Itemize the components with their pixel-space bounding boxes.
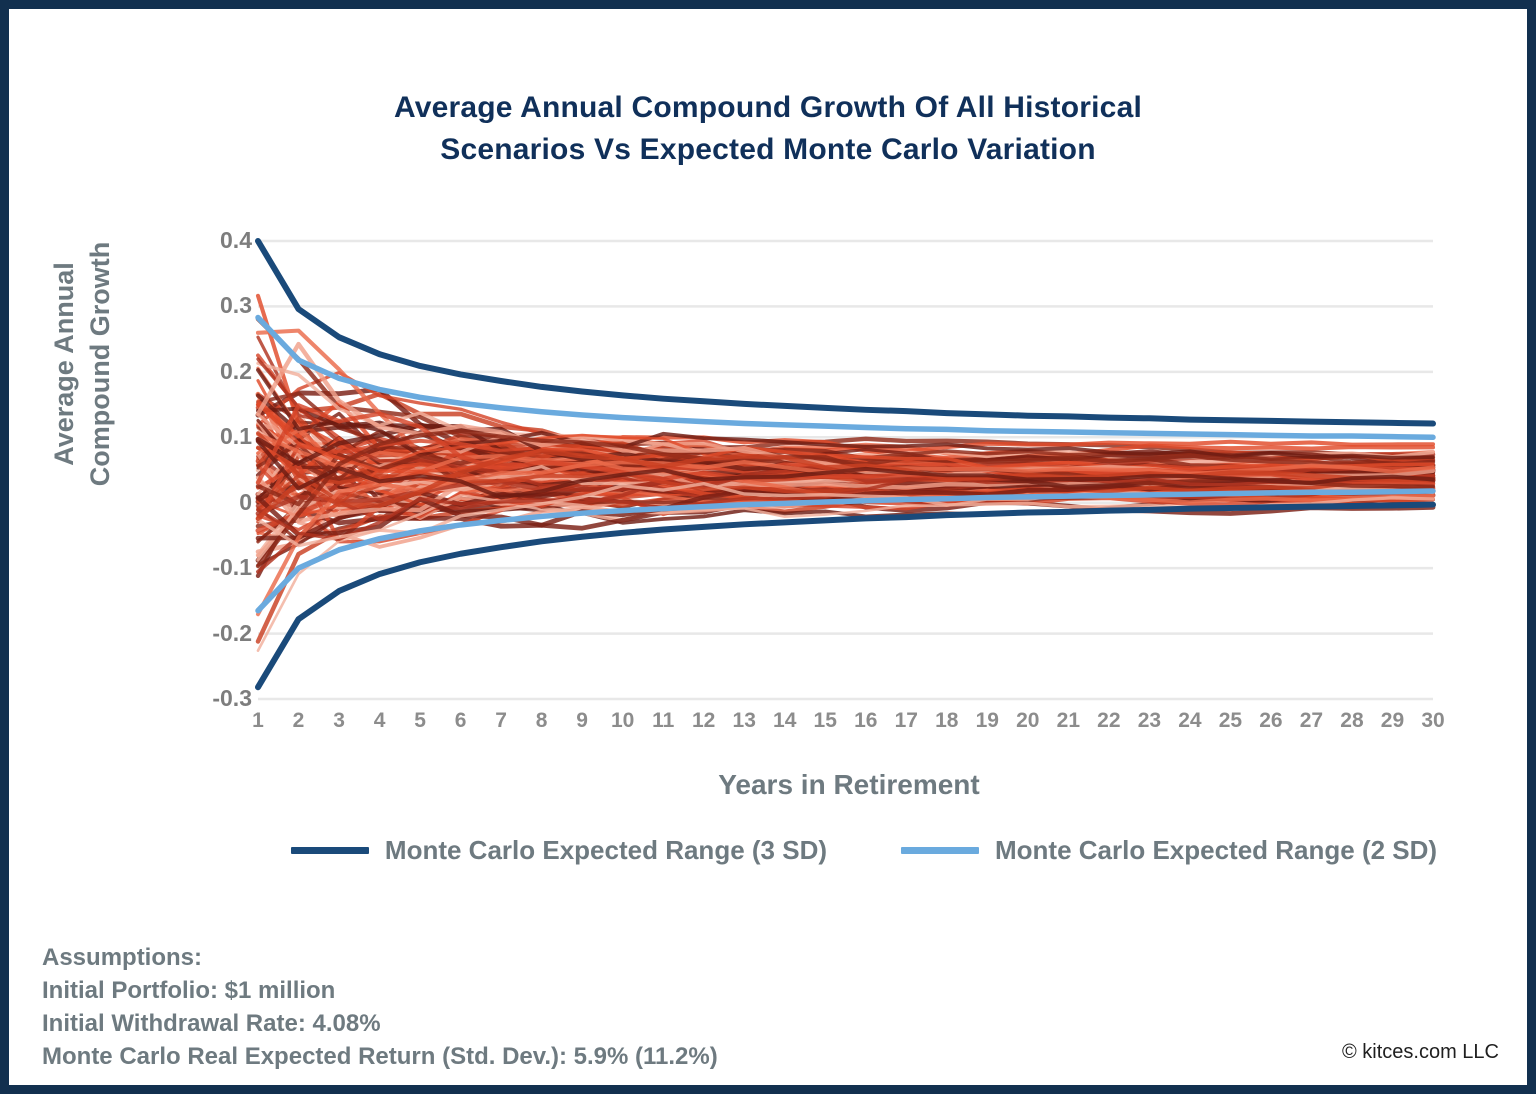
legend-label-2sd: Monte Carlo Expected Range (2 SD) xyxy=(995,835,1437,866)
x-axis-tick-label: 16 xyxy=(854,709,877,733)
x-axis-tick-label: 14 xyxy=(773,709,796,733)
chart-frame: Average Annual Compound Growth Of All Hi… xyxy=(9,9,1527,1085)
x-axis-tick-label: 19 xyxy=(976,709,999,733)
x-axis-tick-label: 3 xyxy=(333,709,345,733)
x-axis-tick-label: 2 xyxy=(293,709,305,733)
x-axis-tick-label: 18 xyxy=(935,709,958,733)
plot-area xyxy=(9,9,1527,1085)
x-axis-tick-label: 4 xyxy=(374,709,386,733)
legend-swatch-2sd-icon xyxy=(901,847,979,854)
x-axis-tick-label: 30 xyxy=(1421,709,1444,733)
x-axis-tick-labels: 1234567891011121314151617181920212223242… xyxy=(258,709,1433,745)
legend-swatch-3sd-icon xyxy=(291,847,369,854)
chart-legend: Monte Carlo Expected Range (3 SD) Monte … xyxy=(249,827,1479,873)
x-axis-title: Years in Retirement xyxy=(249,769,1449,801)
legend-item-3sd: Monte Carlo Expected Range (3 SD) xyxy=(291,835,827,866)
assumptions-heading: Assumptions: xyxy=(42,941,718,974)
x-axis-tick-label: 6 xyxy=(455,709,467,733)
x-axis-tick-label: 1 xyxy=(252,709,264,733)
x-axis-tick-label: 7 xyxy=(495,709,507,733)
x-axis-tick-label: 13 xyxy=(733,709,756,733)
legend-item-2sd: Monte Carlo Expected Range (2 SD) xyxy=(901,835,1437,866)
x-axis-tick-label: 27 xyxy=(1300,709,1323,733)
chart-svg xyxy=(9,9,1527,1085)
x-axis-tick-label: 25 xyxy=(1219,709,1242,733)
x-axis-tick-label: 9 xyxy=(576,709,588,733)
historical-scenario-lines xyxy=(258,296,1433,651)
x-axis-tick-label: 8 xyxy=(536,709,548,733)
assumptions-line-3: Monte Carlo Real Expected Return (Std. D… xyxy=(42,1040,718,1073)
x-axis-tick-label: 22 xyxy=(1097,709,1120,733)
copyright-notice: © kitces.com LLC xyxy=(1342,1041,1499,1064)
assumptions-line-1: Initial Portfolio: $1 million xyxy=(42,974,718,1007)
x-axis-tick-label: 20 xyxy=(1016,709,1039,733)
x-axis-tick-label: 12 xyxy=(692,709,715,733)
x-axis-tick-label: 23 xyxy=(1138,709,1161,733)
x-axis-tick-label: 5 xyxy=(414,709,426,733)
x-axis-tick-label: 11 xyxy=(652,709,674,733)
x-axis-tick-label: 29 xyxy=(1381,709,1404,733)
x-axis-tick-label: 17 xyxy=(895,709,918,733)
x-axis-tick-label: 10 xyxy=(611,709,634,733)
x-axis-tick-label: 15 xyxy=(814,709,837,733)
assumptions-line-2: Initial Withdrawal Rate: 4.08% xyxy=(42,1007,718,1040)
assumptions-block: Assumptions: Initial Portfolio: $1 milli… xyxy=(42,941,718,1073)
x-axis-tick-label: 26 xyxy=(1259,709,1282,733)
x-axis-tick-label: 21 xyxy=(1057,709,1080,733)
x-axis-tick-label: 24 xyxy=(1178,709,1201,733)
x-axis-tick-label: 28 xyxy=(1340,709,1363,733)
legend-label-3sd: Monte Carlo Expected Range (3 SD) xyxy=(385,835,827,866)
